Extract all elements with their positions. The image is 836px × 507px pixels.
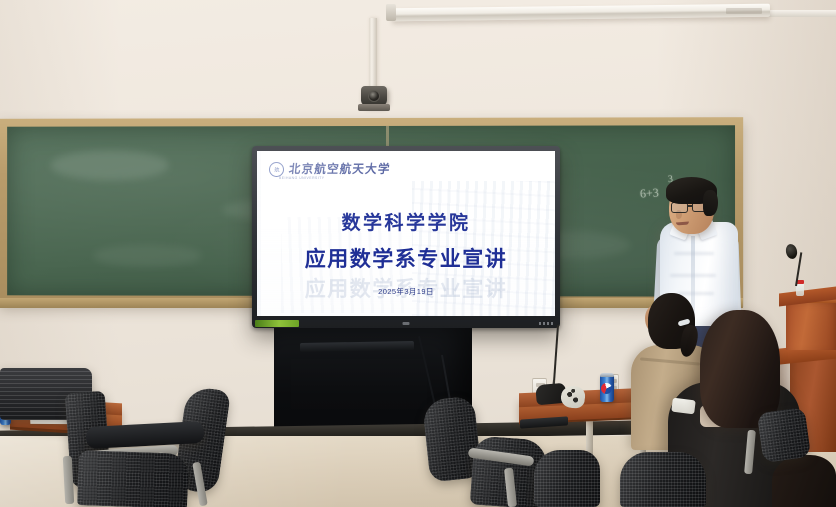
water-bottle — [796, 283, 804, 296]
student-2-sleeve-stripe — [671, 398, 696, 415]
soda-can-logo-icon — [601, 383, 612, 394]
student-3-head — [772, 455, 836, 507]
light-rail-label — [726, 8, 762, 14]
university-seal-icon: 航 — [269, 162, 284, 177]
office-chair-backrest[interactable] — [620, 452, 706, 507]
classroom-photo-scene: 6+3 3 航 北京航空航天大学 BEIHANG UNIVERSITY 数学科学… — [0, 0, 836, 507]
university-name-latin: BEIHANG UNIVERSITY — [279, 176, 325, 180]
podium-body — [786, 298, 836, 350]
chalk-smudge — [93, 245, 202, 267]
seal-glyph: 航 — [274, 165, 279, 173]
display-brand-label — [255, 320, 299, 327]
display-indicator-dots — [539, 322, 555, 325]
university-logo: 航 北京航空航天大学 — [269, 161, 391, 177]
office-chair-backrest[interactable] — [77, 450, 189, 507]
presentation-screen[interactable]: 航 北京航空航天大学 BEIHANG UNIVERSITY 数学科学学院 应用数… — [257, 151, 555, 316]
chalk-smudge — [50, 150, 169, 180]
presenter-hair-side — [703, 190, 718, 216]
interactive-display[interactable]: 航 北京航空航天大学 BEIHANG UNIVERSITY 数学科学学院 应用数… — [252, 146, 560, 328]
camera-lens-icon — [368, 90, 380, 102]
university-name-text: 北京航空航天大学 — [288, 161, 391, 178]
wall-conduit — [369, 18, 377, 90]
light-rail-end-cap — [386, 4, 396, 21]
slide-title-line-1: 数学科学学院 — [257, 208, 555, 235]
slide-title-line-2: 应用数学系专业宣讲 — [257, 243, 555, 273]
office-chair-backrest[interactable] — [534, 450, 600, 507]
presenter-eyeglasses-bridge — [687, 205, 693, 207]
student-2-head — [700, 310, 780, 428]
display-ir-sensor-icon — [403, 322, 410, 325]
soda-can-lid — [600, 373, 614, 377]
office-chair-backrest[interactable] — [757, 407, 811, 463]
chalkboard-note-1: 6+3 — [639, 185, 659, 201]
camera-mount-base — [358, 104, 390, 111]
slide-date: 2025年3月19日 — [257, 286, 555, 297]
ceiling-rail-extension — [768, 10, 836, 17]
